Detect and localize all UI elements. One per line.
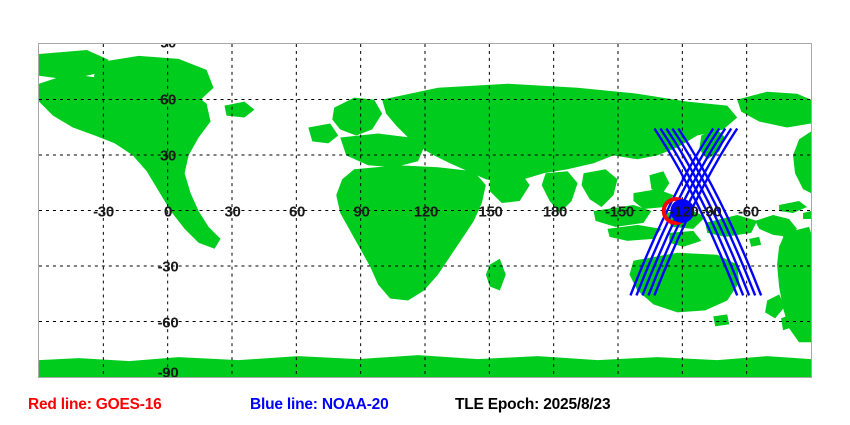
lat-tick-0: 0	[164, 203, 172, 220]
legend-tle-epoch: TLE Epoch: 2025/8/23	[455, 396, 610, 414]
lon-tick-30: 30	[224, 203, 240, 220]
world-map-panel: .land { fill: #00cc1e; stroke: none; } .…	[38, 43, 812, 378]
lat-tick--60: -60	[158, 315, 179, 332]
lon-tick--120: -120	[670, 203, 699, 220]
land-indochina	[582, 169, 618, 207]
lat-tick-30: 30	[160, 147, 176, 164]
lat-tick-60: 60	[160, 91, 176, 108]
legend-blue-line-noaa20: Blue line: NOAA-20	[250, 396, 389, 414]
land-africa	[336, 165, 486, 300]
lon-tick--60: -60	[738, 203, 759, 220]
lon-tick-180: 180	[543, 203, 567, 220]
land-south-america	[777, 227, 811, 342]
lon-tick-150: 150	[478, 203, 502, 220]
lat-tick--30: -30	[158, 259, 179, 276]
land-tasmania	[713, 314, 729, 326]
land-atlantic-right-wrap	[793, 131, 811, 193]
lat-tick-90: 90	[160, 43, 176, 52]
lat-tick--90: -90	[158, 365, 179, 379]
lon-tick--150: -150	[605, 203, 634, 220]
land-iceland	[225, 102, 255, 118]
land-north-america	[39, 74, 221, 249]
lon-tick-60: 60	[289, 203, 305, 220]
lon-tick--30: -30	[93, 203, 114, 220]
land-alaska	[737, 92, 811, 128]
lon-tick-120: 120	[414, 203, 438, 220]
legend-bar: Red line: GOES-16 Blue line: NOAA-20 TLE…	[0, 396, 850, 422]
lon-tick--90: -90	[701, 203, 722, 220]
lon-tick-90: 90	[353, 203, 369, 220]
land-scandinavia	[332, 98, 382, 136]
legend-red-line-goes16: Red line: GOES-16	[28, 396, 162, 414]
